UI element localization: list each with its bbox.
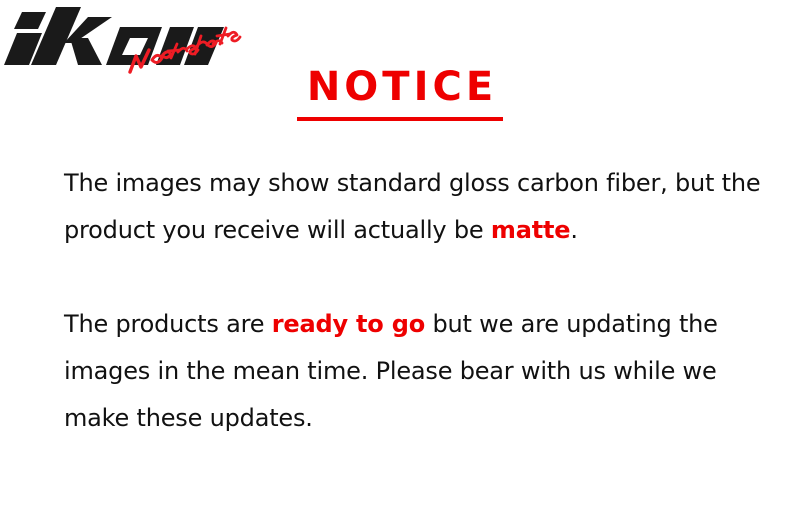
paragraph-1-highlight-matte: matte xyxy=(491,216,570,244)
notice-paragraph-2: The products are ready to go but we are … xyxy=(64,301,764,442)
notice-body: The images may show standard gloss carbo… xyxy=(64,160,764,442)
notice-banner: ikon Motorsports NOTICE The images may s… xyxy=(0,0,800,510)
notice-underline-rule xyxy=(297,117,503,121)
brand-logo: ikon Motorsports xyxy=(0,0,250,80)
paragraph-2-highlight-ready-to-go: ready to go xyxy=(272,310,425,338)
paragraph-1-segment-3: . xyxy=(570,216,577,244)
notice-paragraph-1: The images may show standard gloss carbo… xyxy=(64,160,764,254)
paragraph-2-segment-1: The products are xyxy=(64,310,272,338)
paragraph-1-segment-1: The images may show standard gloss carbo… xyxy=(64,169,760,244)
notice-title: NOTICE xyxy=(280,64,520,110)
notice-heading-block: NOTICE xyxy=(280,64,520,121)
ikon-motorsports-logo-icon xyxy=(2,2,248,78)
